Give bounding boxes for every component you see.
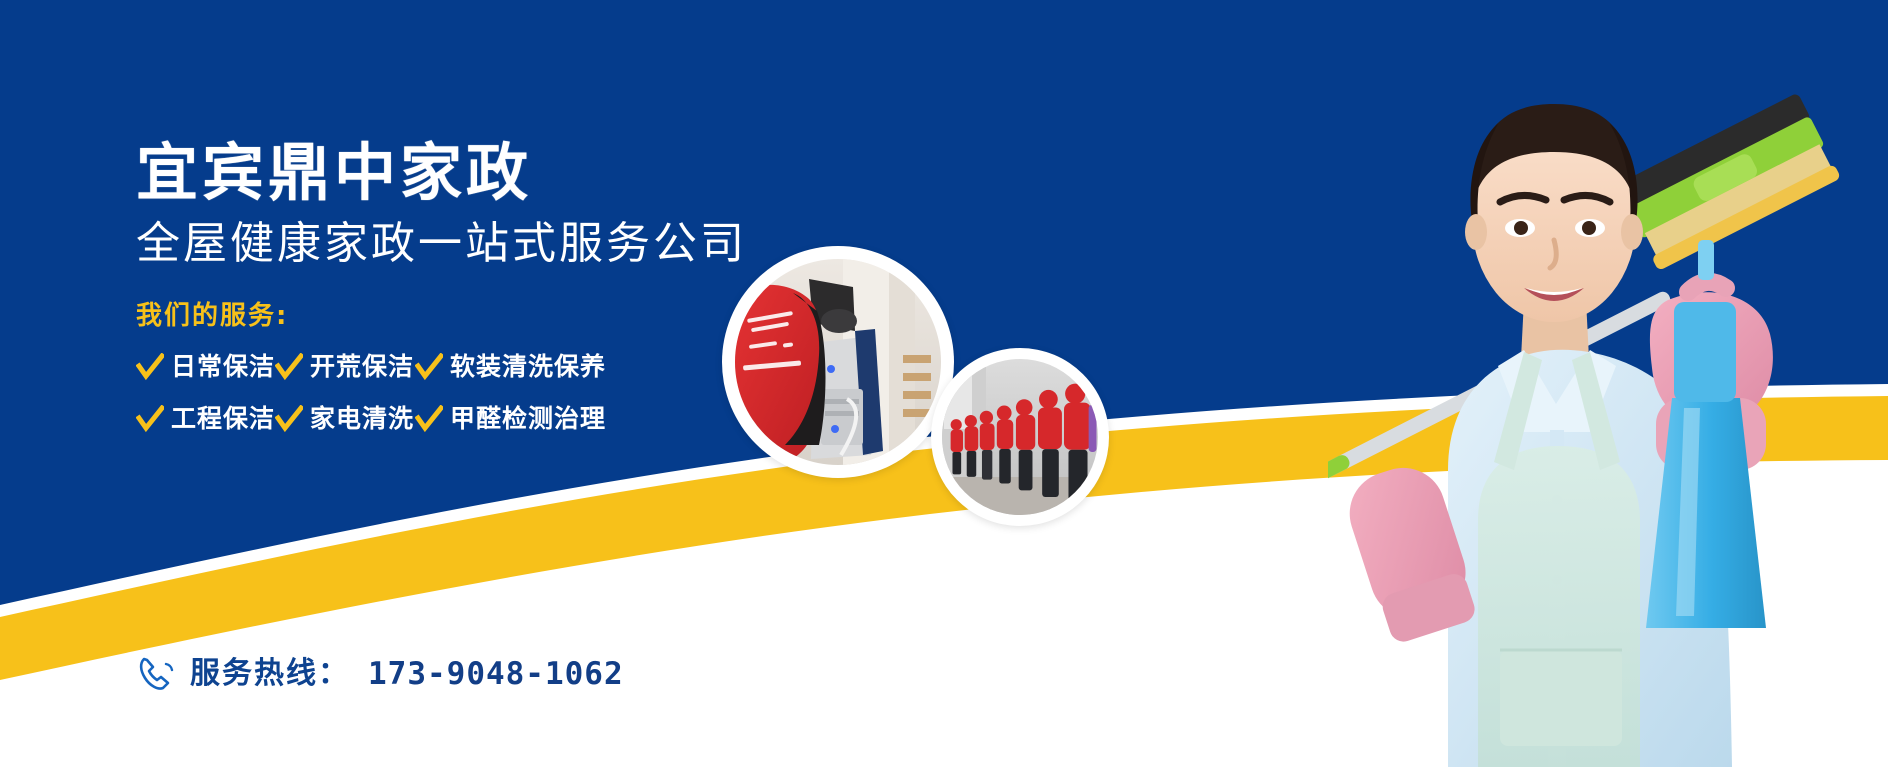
hotline-label: 服务热线： xyxy=(190,659,350,689)
phone-icon xyxy=(136,654,176,694)
photo-technician-equipment xyxy=(722,246,954,478)
hotline[interactable]: 服务热线： 173-9048-1062 xyxy=(136,650,624,698)
photo-team-lineup xyxy=(931,348,1109,526)
photo-technician-equipment-image xyxy=(735,259,941,465)
promo-banner: 宜宾鼎中家政 全屋健康家政一站式服务公司 我们的服务: 日常保洁 开荒保洁 xyxy=(0,0,1888,767)
hotline-number[interactable]: 173-9048-1062 xyxy=(368,659,624,690)
photo-team-lineup-image xyxy=(942,359,1098,515)
